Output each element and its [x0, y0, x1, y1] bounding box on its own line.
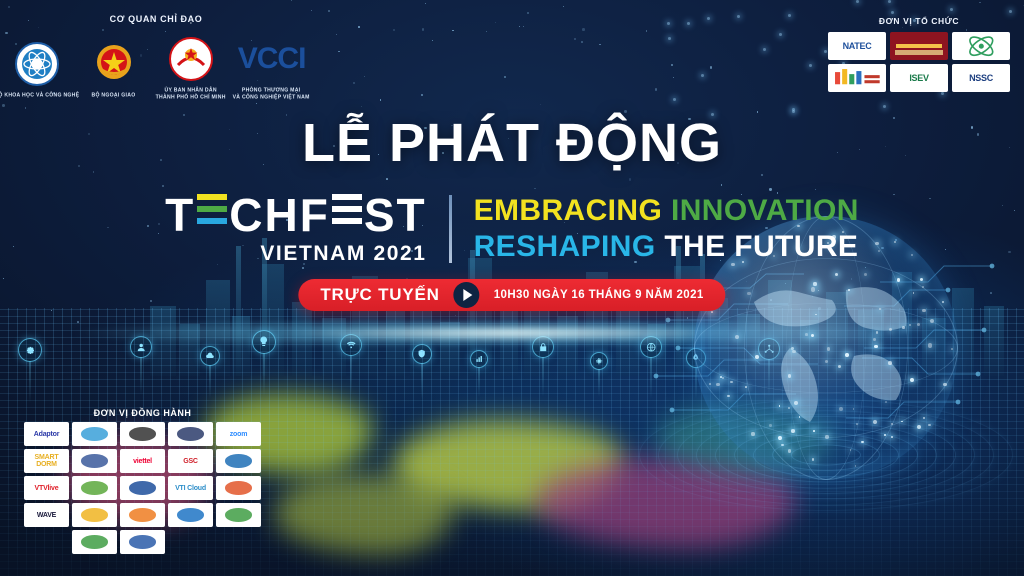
- repu-digital-logo: [168, 422, 213, 446]
- techfest-logo: T CHF ST VIETNAM 2021: [165, 192, 426, 266]
- live-label: TRỰC TUYẾN: [320, 285, 439, 305]
- green-tree-logo: [216, 503, 261, 527]
- blue-circle-logo-mark: [225, 454, 252, 467]
- blue-seal-logo-mark: [129, 481, 156, 494]
- steering-committee-block: CƠ QUAN CHỈ ĐẠO BỘ KHOA HỌC VÀ CÔNG NGHỆ…: [6, 14, 306, 97]
- vcci-logo-icon: VCCI: [238, 36, 306, 82]
- vertical-divider: [449, 195, 452, 263]
- techfest-letters-st: ST: [364, 192, 427, 238]
- steering-caption: PHÒNG THƯƠNG MẠIVÀ CÔNG NGHIỆP VIỆT NAM: [233, 87, 310, 101]
- green-atom-logo: [952, 32, 1010, 60]
- orange-circle-logo-mark: [129, 508, 156, 521]
- organizers-logo-grid: NATECISEVNSSC: [828, 32, 1010, 92]
- tuya-logo-mark: [129, 427, 156, 440]
- yellow-bolt-logo: [72, 503, 117, 527]
- blue-card-logo: [168, 503, 213, 527]
- viettel-logo: viettel: [120, 449, 165, 473]
- page-title: LỄ PHÁT ĐỘNG: [0, 112, 1024, 174]
- green-leaf-logo-mark: [81, 481, 108, 494]
- blue-globe-logo: [120, 530, 165, 554]
- organizers-label: ĐƠN VỊ TỔ CHỨC: [828, 16, 1010, 26]
- wave-logo: WAVE: [24, 503, 69, 527]
- repu-digital-logo-mark: [177, 427, 204, 440]
- gsc-logo: GSC: [168, 449, 213, 473]
- steering-logo-vcci: VCCI PHÒNG THƯƠNG MẠIVÀ CÔNG NGHIỆP VIỆT…: [237, 36, 306, 97]
- vticloud-logo: VTI Cloud: [168, 476, 213, 500]
- touch-logo-mark: [81, 427, 108, 440]
- steering-logo-mofa: BỘ NGOẠI GIAO: [83, 41, 144, 97]
- techfest-wordmark: T CHF ST: [165, 192, 426, 238]
- viettel-logo-text: viettel: [133, 458, 152, 465]
- blue-circle-logo: [216, 449, 261, 473]
- tagline-the-future: THE FUTURE: [664, 230, 858, 263]
- adaptor-logo-text: Adaptor: [34, 431, 59, 438]
- p-green-logo: [72, 530, 117, 554]
- tagline-line-1: EMBRACING INNOVATION: [474, 193, 859, 229]
- live-banner[interactable]: TRỰC TUYẾN 10H30 NGÀY 16 THÁNG 9 NĂM 202…: [298, 279, 725, 311]
- blue-card-logo-mark: [177, 508, 204, 521]
- blue-globe-logo-mark: [129, 535, 156, 548]
- vtvlive-logo: VTVlive: [24, 476, 69, 500]
- zoom-logo: zoom: [216, 422, 261, 446]
- gsc-logo-text: GSC: [183, 458, 198, 465]
- tagline-block: EMBRACING INNOVATION RESHAPING THE FUTUR…: [474, 193, 859, 265]
- adaptor-logo: Adaptor: [24, 422, 69, 446]
- smart-dorm-logo: SMART DORM: [24, 449, 69, 473]
- tuya-logo: [120, 422, 165, 446]
- tagline-reshaping: RESHAPING: [474, 230, 656, 263]
- steering-caption: BỘ NGOẠI GIAO: [92, 92, 136, 99]
- techfest-letter-t: T: [165, 192, 195, 238]
- techfest-subtitle: VIETNAM 2021: [165, 242, 426, 266]
- steering-logo-row: BỘ KHOA HỌC VÀ CÔNG NGHỆ BỘ NGOẠI GIAO Ủ…: [6, 36, 306, 97]
- colorful-logo: [828, 64, 886, 92]
- techfest-letters-chf: CHF: [229, 192, 330, 238]
- empty-slot: [168, 530, 213, 554]
- sponsors-label: ĐƠN VỊ ĐỒNG HÀNH: [24, 408, 261, 418]
- vticloud-logo-text: VTI Cloud: [175, 485, 206, 492]
- event-datetime: 10H30 NGÀY 16 THÁNG 9 NĂM 2021: [494, 289, 704, 301]
- most-emblem-icon: [14, 41, 60, 87]
- zoom-logo-text: zoom: [230, 431, 247, 438]
- sponsors-block: ĐƠN VỊ ĐỒNG HÀNH AdaptorzoomSMART DORMvi…: [24, 408, 261, 554]
- brand-row: T CHF ST VIETNAM 2021 EMBRACING: [0, 192, 1024, 266]
- green-tree-logo-mark: [225, 508, 252, 521]
- shield-logo-mark: [81, 454, 108, 467]
- natec-logo: NATEC: [828, 32, 886, 60]
- p-green-logo-mark: [81, 535, 108, 548]
- red-emblem-logo: [890, 32, 948, 60]
- organizers-block: ĐƠN VỊ TỔ CHỨC NATECISEVNSSC: [828, 16, 1010, 92]
- natec-logo-text: NATEC: [843, 41, 872, 51]
- smart-dorm-logo-text: SMART DORM: [24, 454, 69, 468]
- sponsors-logo-grid: AdaptorzoomSMART DORMviettelGSCVTVliveVT…: [24, 422, 261, 554]
- steering-committee-label: CƠ QUAN CHỈ ĐẠO: [6, 14, 306, 24]
- techfest-e2-bars-icon: [332, 192, 362, 226]
- steering-logo-hcmc: ỦY BAN NHÂN DÂNTHÀNH PHỐ HỒ CHÍ MINH: [160, 36, 221, 97]
- tagline-line-2: RESHAPING THE FUTURE: [474, 229, 859, 265]
- empty-slot: [24, 530, 69, 554]
- wave-logo-text: WAVE: [37, 512, 56, 519]
- poster-canvas: CƠ QUAN CHỈ ĐẠO BỘ KHOA HỌC VÀ CÔNG NGHỆ…: [0, 0, 1024, 576]
- nssc-logo-text: NSSC: [969, 73, 993, 83]
- isev-logo-text: ISEV: [909, 73, 928, 83]
- nssc-logo: NSSC: [952, 64, 1010, 92]
- touch-logo: [72, 422, 117, 446]
- orange-circle-logo: [120, 503, 165, 527]
- empty-slot: [216, 530, 261, 554]
- steering-caption: BỘ KHOA HỌC VÀ CÔNG NGHỆ: [0, 92, 79, 99]
- orange-arrow-logo: [216, 476, 261, 500]
- shield-logo: [72, 449, 117, 473]
- blue-seal-logo: [120, 476, 165, 500]
- steering-caption: ỦY BAN NHÂN DÂNTHÀNH PHỐ HỒ CHÍ MINH: [156, 87, 226, 101]
- tagline-innovation: INNOVATION: [671, 194, 859, 227]
- yellow-bolt-logo-mark: [81, 508, 108, 521]
- vietnam-national-emblem-icon: [91, 41, 137, 87]
- green-leaf-logo: [72, 476, 117, 500]
- steering-logo-most: BỘ KHOA HỌC VÀ CÔNG NGHỆ: [6, 41, 67, 97]
- techfest-e-bars-icon: [197, 192, 227, 226]
- tagline-embracing: EMBRACING: [474, 194, 663, 227]
- vtvlive-logo-text: VTVlive: [35, 485, 59, 492]
- play-icon[interactable]: [454, 282, 480, 308]
- orange-arrow-logo-mark: [225, 481, 252, 494]
- vcci-wordmark: VCCI: [238, 42, 306, 76]
- isev-logo: ISEV: [890, 64, 948, 92]
- hcmc-peoples-committee-icon: [168, 36, 214, 82]
